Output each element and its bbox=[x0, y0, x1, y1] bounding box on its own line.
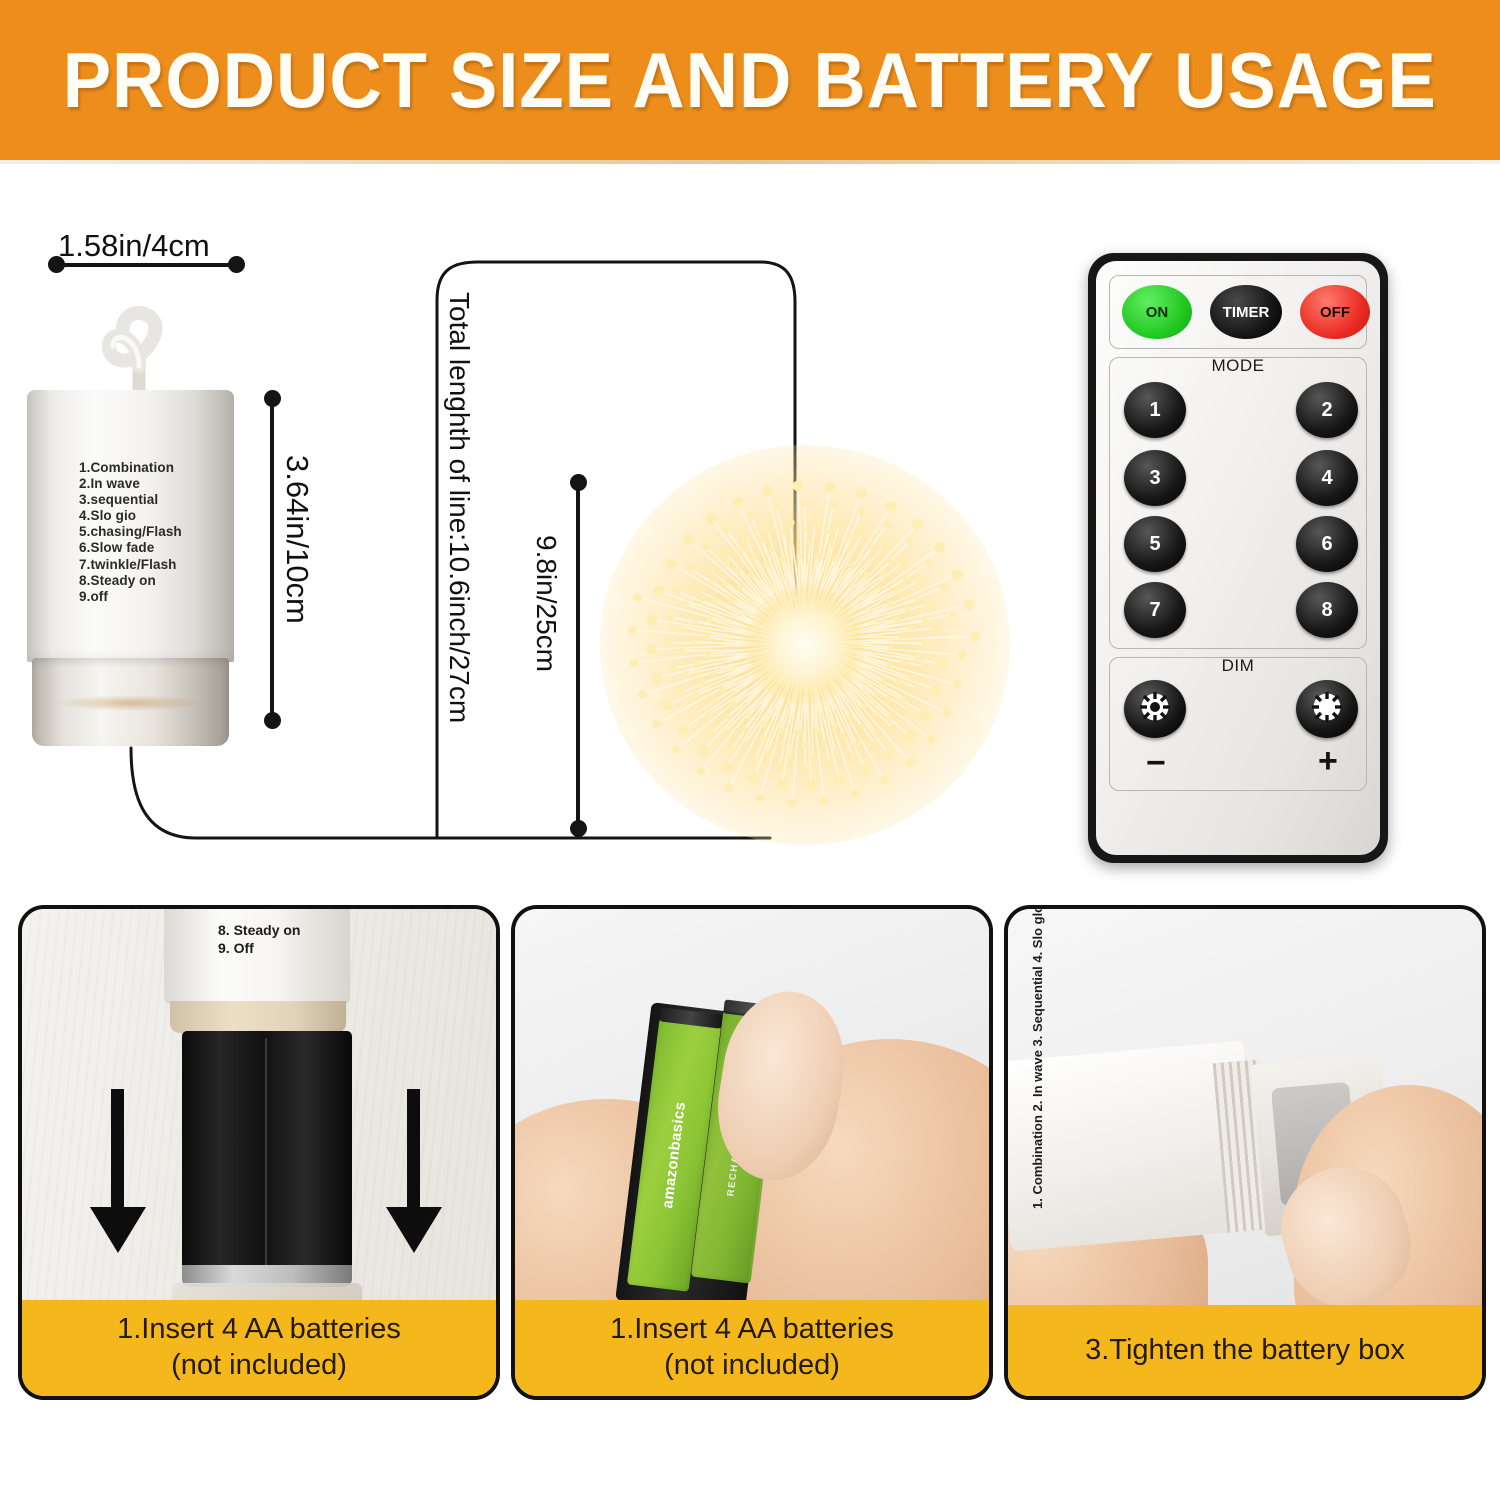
firework-light-illustration bbox=[600, 445, 1010, 845]
mode-button-8[interactable]: 8 bbox=[1296, 582, 1358, 638]
dim-button-group: DIM bbox=[1109, 657, 1367, 791]
battery-box-clear-cap bbox=[32, 658, 229, 746]
mode-item: 1.Combination bbox=[79, 460, 229, 476]
dim-up-button[interactable] bbox=[1296, 680, 1358, 738]
mode-item: 9.off bbox=[79, 589, 229, 605]
page-title: PRODUCT SIZE AND BATTERY USAGE bbox=[63, 35, 1437, 126]
down-arrow-right-stem bbox=[407, 1089, 420, 1211]
mode-item: 2.In wave bbox=[79, 476, 229, 492]
battery-box-mode-list: 1.Combination 2.In wave 3.sequential 4.S… bbox=[79, 460, 229, 605]
remote-control[interactable]: ON TIMER OFF MODE 1 2 3 4 5 6 7 8 DIM bbox=[1088, 253, 1388, 863]
height-dimension-line bbox=[270, 398, 274, 718]
mode-item: 5.chasing/Flash bbox=[79, 524, 229, 540]
step-3-mode-list: 1. Combination 2. In wave 3. Sequential … bbox=[1030, 905, 1045, 1209]
off-button[interactable]: OFF bbox=[1300, 285, 1370, 339]
battery-box-body: 1.Combination 2.In wave 3.sequential 4.S… bbox=[27, 390, 234, 662]
dim-plus-label: + bbox=[1318, 744, 1338, 778]
down-arrow-left-head bbox=[90, 1207, 146, 1253]
steps-row: 8. Steady on 9. Off 1.Insert 4 AA batter… bbox=[0, 905, 1500, 1485]
step-1-overlay-text: 8. Steady on 9. Off bbox=[218, 921, 300, 957]
mode-item: 8.Steady on bbox=[79, 573, 229, 589]
remote-face: ON TIMER OFF MODE 1 2 3 4 5 6 7 8 DIM bbox=[1096, 261, 1380, 855]
mode-button-5[interactable]: 5 bbox=[1124, 516, 1186, 572]
height-dimension-label: 3.64in/10cm bbox=[279, 455, 315, 624]
power-button-group: ON TIMER OFF bbox=[1109, 275, 1367, 349]
mode-item: 4.Slo gio bbox=[79, 508, 229, 524]
infographic-canvas: PRODUCT SIZE AND BATTERY USAGE 1.58in/4c… bbox=[0, 0, 1500, 1500]
width-dimension-line bbox=[56, 263, 236, 267]
header-divider bbox=[0, 160, 1500, 164]
line-length-label: Total lenghth of line:10.6inch/27cm bbox=[443, 292, 475, 723]
timer-button[interactable]: TIMER bbox=[1210, 285, 1282, 339]
header-banner: PRODUCT SIZE AND BATTERY USAGE bbox=[0, 0, 1500, 160]
mode-button-2[interactable]: 2 bbox=[1296, 382, 1358, 438]
burst-dimension-line bbox=[576, 482, 580, 827]
width-dim-endpoint-right bbox=[228, 256, 245, 273]
step-2-caption: 1.Insert 4 AA batteries (not included) bbox=[515, 1300, 989, 1396]
mode-button-7[interactable]: 7 bbox=[1124, 582, 1186, 638]
mode-button-3[interactable]: 3 bbox=[1124, 450, 1186, 506]
battery-box-illustration: 1.Combination 2.In wave 3.sequential 4.S… bbox=[27, 390, 234, 750]
down-arrow-left-stem bbox=[111, 1089, 124, 1211]
mode-group-label: MODE bbox=[1110, 356, 1366, 376]
battery-holder bbox=[182, 1031, 352, 1279]
sun-solid-icon bbox=[1132, 684, 1178, 735]
width-dim-endpoint-left bbox=[48, 256, 65, 273]
step-1-caption: 1.Insert 4 AA batteries (not included) bbox=[22, 1300, 496, 1396]
mode-item: 3.sequential bbox=[79, 492, 229, 508]
mode-item: 6.Slow fade bbox=[79, 540, 229, 556]
battery-brand-label: amazonbasics bbox=[659, 1101, 689, 1210]
mode-button-group: MODE 1 2 3 4 5 6 7 8 bbox=[1109, 357, 1367, 649]
sun-hollow-icon bbox=[1304, 684, 1350, 735]
mode-button-6[interactable]: 6 bbox=[1296, 516, 1358, 572]
step-panel-2: amazonbasics RECHARGEABLE 1.Insert 4 AA … bbox=[511, 905, 993, 1400]
dim-group-label: DIM bbox=[1110, 656, 1366, 676]
mode-item: 7.twinkle/Flash bbox=[79, 557, 229, 573]
mode-button-1[interactable]: 1 bbox=[1124, 382, 1186, 438]
width-dimension-label: 1.58in/4cm bbox=[58, 228, 210, 264]
burst-diameter-label: 9.8in/25cm bbox=[530, 535, 562, 672]
step-panel-1: 8. Steady on 9. Off 1.Insert 4 AA batter… bbox=[18, 905, 500, 1400]
dim-down-button[interactable] bbox=[1124, 680, 1186, 738]
down-arrow-right-head bbox=[386, 1207, 442, 1253]
height-dim-endpoint-bottom bbox=[264, 712, 281, 729]
dim-minus-label: − bbox=[1146, 746, 1166, 780]
step-3-caption: 3.Tighten the battery box bbox=[1008, 1305, 1482, 1396]
firework-core bbox=[745, 585, 865, 705]
hanging-hook-icon bbox=[99, 300, 181, 400]
step-panel-3: 1. Combination 2. In wave 3. Sequential … bbox=[1004, 905, 1486, 1400]
burst-dim-endpoint-bottom bbox=[570, 820, 587, 837]
mode-button-4[interactable]: 4 bbox=[1296, 450, 1358, 506]
on-button[interactable]: ON bbox=[1122, 285, 1192, 339]
